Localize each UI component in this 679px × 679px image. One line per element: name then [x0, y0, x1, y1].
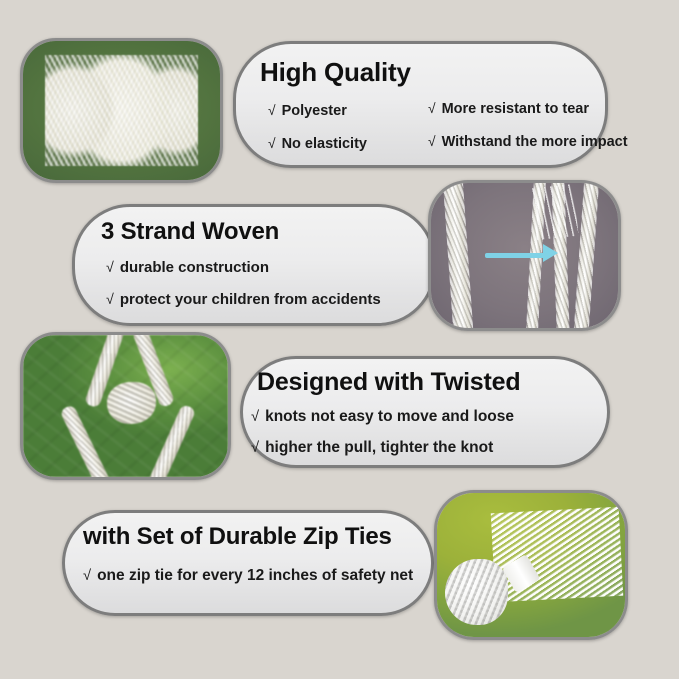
feature-item: √ Polyester — [268, 103, 347, 119]
feature-item: √ durable construction — [106, 259, 269, 276]
zip-tie-tails — [491, 507, 623, 603]
feature-item: √ No elasticity — [268, 136, 367, 152]
check-icon: √ — [106, 292, 114, 308]
feature-panel-durable-zip-ties: with Set of Durable Zip Ties √ one zip t… — [62, 510, 434, 616]
feature-panel-high-quality: High Quality √ Polyester √ More resistan… — [233, 41, 608, 168]
product-image-rope-strands — [428, 180, 621, 331]
feature-panel-3-strand-woven: 3 Strand Woven √ durable construction √ … — [72, 204, 436, 326]
check-icon: √ — [268, 103, 276, 118]
feature-item: √ knots not easy to move and loose — [251, 408, 514, 426]
product-image-rope-knot — [20, 332, 231, 480]
loose-fibers — [531, 184, 578, 240]
feature-panel-designed-with-twisted: Designed with Twisted √ knots not easy t… — [240, 356, 610, 468]
panel-title-high-quality: High Quality — [260, 57, 411, 88]
rope-strand — [442, 180, 473, 331]
rope-strands-photo — [431, 183, 618, 328]
panel-title-durable-zip-ties: with Set of Durable Zip Ties — [83, 523, 392, 551]
rope-knot-photo — [23, 335, 228, 477]
arrow-right-icon-head — [543, 244, 558, 262]
zip-ties-photo — [437, 493, 625, 637]
feature-label: one zip tie for every 12 inches of safet… — [97, 567, 413, 585]
check-icon: √ — [428, 134, 436, 149]
feature-label: No elasticity — [282, 136, 367, 152]
feature-item: √ higher the pull, tighter the knot — [251, 439, 493, 457]
check-icon: √ — [268, 136, 276, 151]
check-icon: √ — [83, 568, 91, 584]
check-icon: √ — [106, 260, 114, 276]
check-icon: √ — [251, 440, 259, 456]
feature-label: protect your children from accidents — [120, 291, 381, 308]
feature-item: √ one zip tie for every 12 inches of saf… — [83, 567, 413, 585]
check-icon: √ — [251, 409, 259, 425]
feature-label: More resistant to tear — [442, 101, 589, 117]
feature-label: knots not easy to move and loose — [265, 408, 514, 426]
panel-title-3-strand-woven: 3 Strand Woven — [101, 218, 279, 246]
feature-label: Withstand the more impact — [442, 134, 628, 150]
infographic-canvas: High Quality √ Polyester √ More resistan… — [0, 0, 679, 679]
rope-strand — [573, 180, 599, 331]
feature-item: √ More resistant to tear — [428, 101, 589, 117]
feature-item: √ protect your children from accidents — [106, 291, 381, 308]
product-image-rope-coil — [20, 38, 223, 183]
zip-tie-heads — [445, 559, 509, 625]
rope-coil-photo — [23, 41, 220, 180]
feature-label: higher the pull, tighter the knot — [265, 439, 493, 457]
feature-item: √ Withstand the more impact — [428, 134, 628, 150]
panel-title-designed-with-twisted: Designed with Twisted — [257, 368, 520, 397]
check-icon: √ — [428, 101, 436, 116]
feature-label: durable construction — [120, 259, 269, 276]
rope-bundle-shape — [45, 55, 199, 166]
product-image-zip-ties — [434, 490, 628, 640]
arrow-right-icon — [485, 253, 547, 258]
feature-label: Polyester — [282, 103, 347, 119]
